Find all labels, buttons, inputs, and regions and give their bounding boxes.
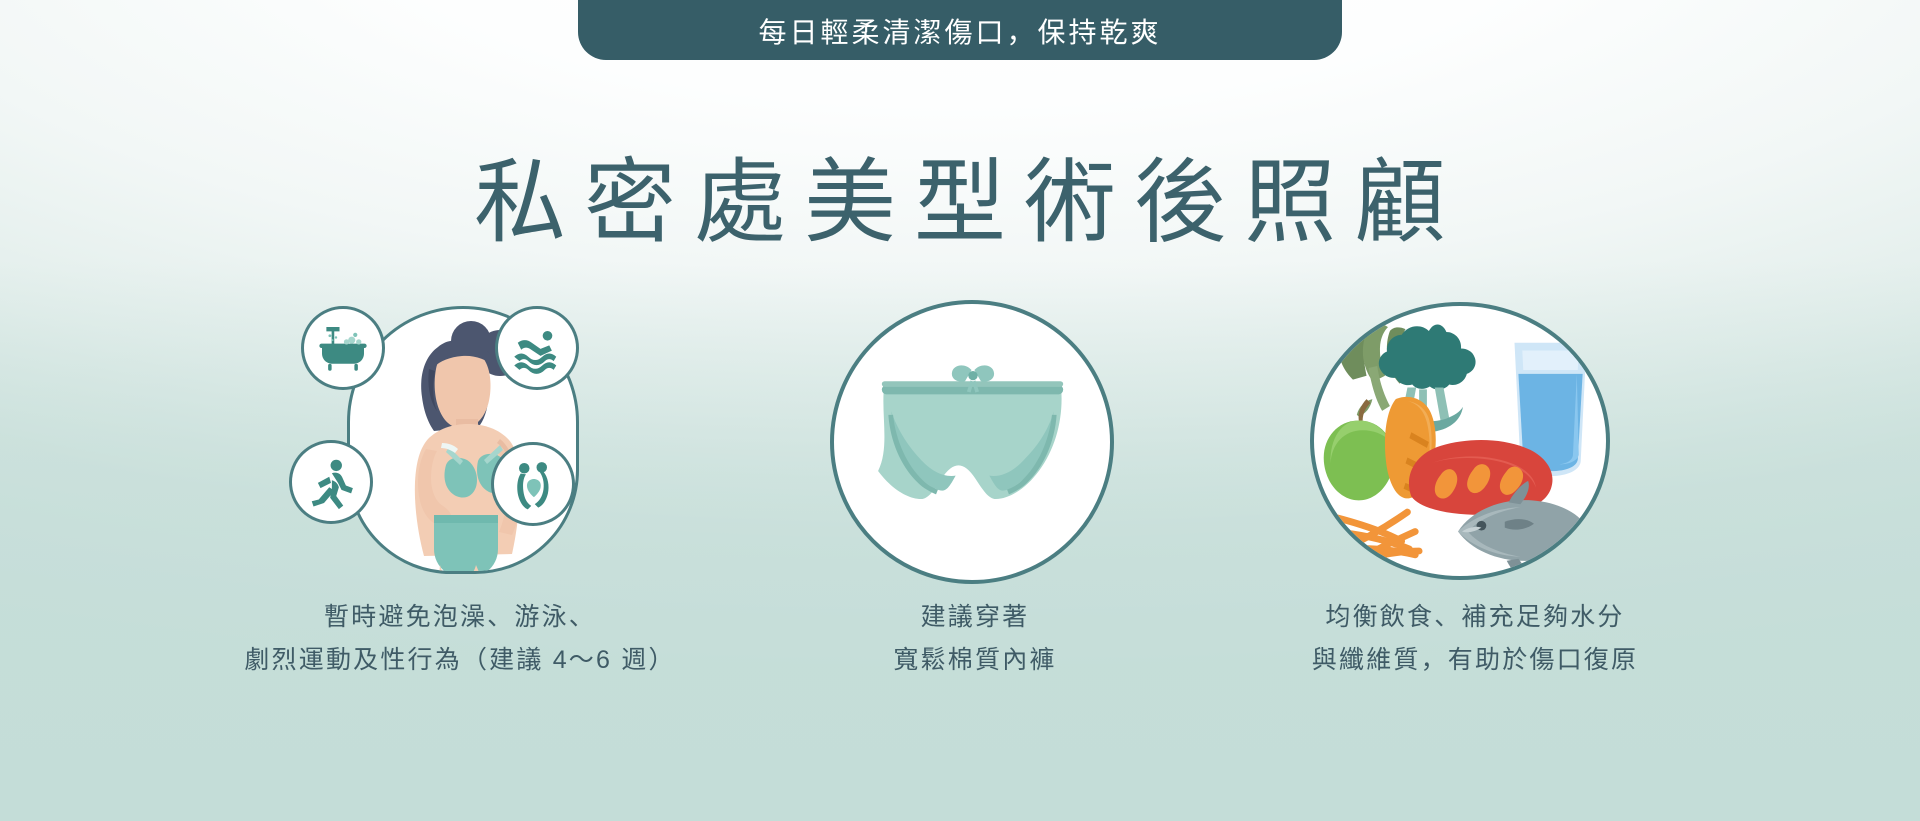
underwear-illustration: [830, 300, 1120, 582]
balanced-food-plate-badge: [1310, 302, 1610, 580]
cotton-underwear-icon: [865, 353, 1080, 531]
balanced-food-plate-icon: [1314, 302, 1606, 580]
care-item-nutrition-advice: 均衡飲食、補充足夠水分 與纖維質，有助於傷口復原: [1210, 300, 1740, 682]
running-icon: [303, 454, 359, 510]
bathtub-icon: [315, 320, 371, 376]
apple-shape: [1324, 399, 1394, 500]
intimacy-icon: [505, 456, 561, 512]
activity-illustration: [295, 300, 625, 582]
caption-line-2: 寬鬆棉質內褲: [893, 639, 1056, 682]
cotton-underwear-badge: [830, 300, 1114, 584]
vegetable-strips-shape: [1330, 512, 1420, 565]
banner-text: 每日輕柔清潔傷口，保持乾爽: [758, 11, 1161, 51]
running-icon-badge: [289, 440, 373, 524]
top-banner: 每日輕柔清潔傷口，保持乾爽: [578, 0, 1342, 60]
caption-nutrition: 均衡飲食、補充足夠水分 與纖維質，有助於傷口復原: [1312, 596, 1638, 682]
caption-clothing: 建議穿著 寬鬆棉質內褲: [893, 596, 1056, 682]
bathtub-icon-badge: [301, 306, 385, 390]
swimming-icon-badge: [495, 306, 579, 390]
food-illustration: [1310, 300, 1640, 582]
caption-line-1: 暫時避免泡澡、游泳、: [244, 596, 675, 639]
caption-line-2: 與纖維質，有助於傷口復原: [1312, 639, 1638, 682]
intimacy-icon-badge: [491, 442, 575, 526]
infographic-canvas: 每日輕柔清潔傷口，保持乾爽 私密處美型術後照顧: [0, 0, 1920, 821]
caption-line-1: 建議穿著: [893, 596, 1056, 639]
care-item-clothing-advice: 建議穿著 寬鬆棉質內褲: [740, 300, 1210, 682]
swimming-icon: [509, 320, 565, 376]
page-title: 私密處美型術後照顧: [0, 128, 1920, 261]
caption-activity: 暫時避免泡澡、游泳、 劇烈運動及性行為（建議 4～6 週）: [244, 596, 675, 682]
caption-line-2: 劇烈運動及性行為（建議 4～6 週）: [244, 639, 675, 682]
care-items-row: 暫時避免泡澡、游泳、 劇烈運動及性行為（建議 4～6 週）: [0, 300, 1920, 750]
care-item-activity-restrictions: 暫時避免泡澡、游泳、 劇烈運動及性行為（建議 4～6 週）: [180, 300, 740, 682]
caption-line-1: 均衡飲食、補充足夠水分: [1312, 596, 1638, 639]
